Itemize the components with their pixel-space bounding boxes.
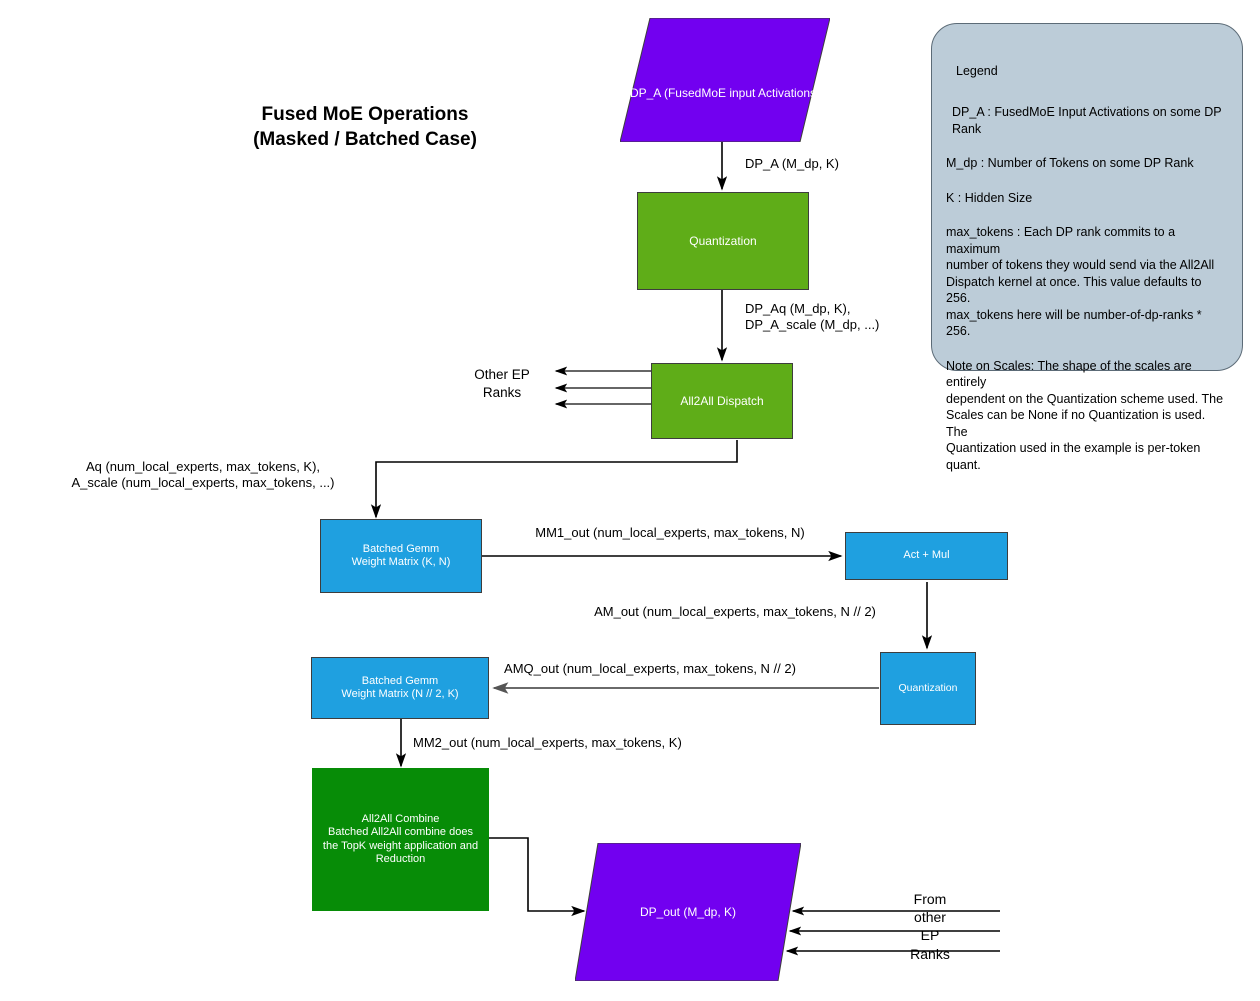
edge-combine-to-dpout [489,838,584,911]
diagram-canvas: Fused MoE Operations (Masked / Batched C… [0,0,1260,1001]
node-batched-gemm-2-label: Batched Gemm Weight Matrix (N // 2, K) [312,675,488,702]
node-all2all-dispatch-label: All2All Dispatch [652,394,792,409]
edge-label-am-out: AM_out (num_local_experts, max_tokens, N… [545,604,925,620]
edge-label-amq-out: AMQ_out (num_local_experts, max_tokens, … [430,661,870,677]
legend-entry-k: K : Hidden Size [946,190,1228,207]
legend-entry-note-on-scales: Note on Scales: The shape of the scales … [946,358,1228,474]
edge-label-dp-a-out: DP_A (M_dp, K) [745,156,995,172]
edge-label-dispatch-out: Aq (num_local_experts, max_tokens, K), A… [38,459,368,492]
side-text-other-ep-ranks: Other EP Ranks [452,366,552,401]
edge-label-quant1-out: DP_Aq (M_dp, K), DP_A_scale (M_dp, ...) [745,301,1015,334]
node-batched-gemm-1-label: Batched Gemm Weight Matrix (K, N) [321,543,481,570]
node-quantization-2-label: Quantization [881,682,975,695]
node-dp-a-label: DP_A (FusedMoE input Activations) [630,86,820,100]
node-dp-a: DP_A (FusedMoE input Activations) [620,18,830,142]
edge-label-mm1-out: MM1_out (num_local_experts, max_tokens, … [450,525,890,541]
dp-a-shape [620,18,830,142]
legend-content: Legend DP_A : FusedMoE Input Activations… [932,24,1242,491]
node-all2all-combine-label: All2All Combine Batched All2All combine … [312,813,489,867]
edge-label-mm2-out: MM2_out (num_local_experts, max_tokens, … [413,735,773,751]
node-all2all-dispatch: All2All Dispatch [651,363,793,439]
node-all2all-combine: All2All Combine Batched All2All combine … [312,768,489,911]
node-quantization-1: Quantization [637,192,809,290]
edge-dispatch-to-gemm1 [376,440,737,517]
diagram-title: Fused MoE Operations (Masked / Batched C… [205,103,525,152]
side-text-from-other-ep-ranks: From other EP Ranks [885,890,975,963]
node-dp-out: DP_out (M_dp, K) [575,843,801,981]
node-quantization-1-label: Quantization [638,234,808,249]
node-quantization-2: Quantization [880,652,976,725]
node-act-mul-label: Act + Mul [846,549,1007,562]
legend-entry-dp-a: DP_A : FusedMoE Input Activations on som… [952,104,1228,137]
legend-heading: Legend [956,64,1228,78]
node-dp-out-label: DP_out (M_dp, K) [640,905,736,919]
